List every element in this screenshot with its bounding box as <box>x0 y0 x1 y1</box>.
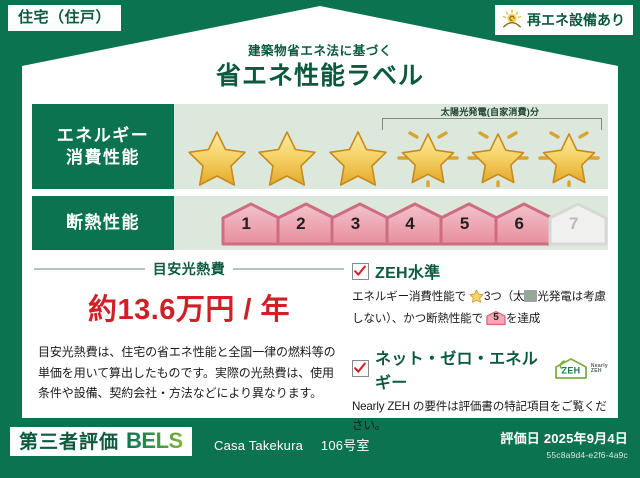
energy-label-line1: エネルギー <box>57 125 150 146</box>
sun-icon <box>501 9 523 31</box>
zeh-logo: ZEH Nearly ZEH <box>553 357 608 381</box>
bels-badge-jp-text: 第三者評価 <box>19 433 119 452</box>
insulation-level-number: 3 <box>329 215 382 232</box>
claim-net-zero-energy-header: ネット・ゼロ・エネルギー ZEH Nearly ZEH <box>352 345 608 393</box>
claim-zeh-standard: ZEH水準 エネルギー消費性能で 3つ（太光発電は考慮しない）、かつ断熱性能で … <box>352 259 608 329</box>
zeh-logo-subtext: Nearly ZEH <box>591 364 608 375</box>
claim-text-part4: を達成 <box>506 312 540 325</box>
evaluation-date: 評価日 2025年9月4日 <box>500 428 628 447</box>
utility-cost-column: 目安光熱費 約13.6万円 / 年 目安光熱費は、住宅の省エネ性能と全国一律の燃… <box>34 259 344 404</box>
redaction-block <box>524 290 537 302</box>
insulation-level-number: 1 <box>220 215 273 232</box>
label-title: 省エネ性能ラベル <box>0 56 640 92</box>
checkmark-icon <box>352 360 369 377</box>
utility-cost-note: 目安光熱費は、住宅の省エネ性能と全国一律の燃料等の単価を用いて算出したものです。… <box>34 342 344 404</box>
star-icon-solar <box>537 125 601 187</box>
insulation-level: 4 <box>384 201 437 247</box>
claim-zeh-standard-title: ZEH水準 <box>375 259 441 283</box>
label-footer: 第三者評価 BELS Casa Takekura 106号室 評価日 2025年… <box>0 418 640 478</box>
insulation-level-number: 4 <box>384 215 437 232</box>
star-icon <box>185 125 249 187</box>
insulation-level-number: 7 <box>547 215 600 232</box>
divider-line-left <box>34 268 145 270</box>
insulation-level: 5 <box>438 201 491 247</box>
insulation-level-scale: 1 2 3 <box>220 200 600 247</box>
insulation-performance-label-box: 断熱性能 <box>32 196 174 250</box>
room-number: 106号室 <box>321 438 370 453</box>
housing-type-tag: 住宅（住戸） <box>8 5 121 31</box>
insulation-level-number: 5 <box>438 215 491 232</box>
claim-text-part1: エネルギー消費性能で <box>352 290 466 303</box>
utility-cost-heading: 目安光熱費 <box>34 259 344 279</box>
star-rating <box>182 124 604 187</box>
insulation-level-number: 6 <box>493 215 546 232</box>
star-icon-solar <box>396 125 460 187</box>
zeh-house-icon: ZEH <box>553 357 589 381</box>
energy-performance-label: 住宅（住戸） 再エネ設備あり 建築物省エネ法に基づく 省エネ性能ラベル <box>0 0 640 478</box>
energy-rating-area: 太陽光発電(自家消費)分 <box>174 104 608 189</box>
evaluation-id: 55c8a9d4-e2f6-4a9c <box>500 450 628 460</box>
checkmark-icon <box>352 263 369 280</box>
claim-zeh-standard-header: ZEH水準 <box>352 259 608 283</box>
insulation-rating-area: 1 2 3 <box>174 196 608 250</box>
star-icon <box>255 125 319 187</box>
label-card: エネルギー 消費性能 太陽光発電(自家消費)分 <box>22 96 618 418</box>
building-info: Casa Takekura 106号室 <box>214 435 370 454</box>
claim-zeh-standard-text: エネルギー消費性能で 3つ（太光発電は考慮しない）、かつ断熱性能で 5 を達成 <box>352 287 608 329</box>
svg-text:ZEH: ZEH <box>561 365 580 375</box>
star-icon <box>326 125 390 187</box>
bels-badge-en-text: BELS <box>126 430 183 452</box>
zeh-sub-line2: ZEH <box>591 368 602 374</box>
claim-text-part2: 3つ（太 <box>484 290 524 303</box>
building-name: Casa Takekura <box>214 438 303 453</box>
energy-label-line2: 消費性能 <box>66 147 140 168</box>
evaluation-info: 評価日 2025年9月4日 55c8a9d4-e2f6-4a9c <box>500 428 628 460</box>
divider-line-right <box>233 268 344 270</box>
inline-insulation-badge: 5 <box>486 310 506 326</box>
renewable-equipment-tag: 再エネ設備あり <box>495 5 633 35</box>
insulation-level: 1 <box>220 201 273 247</box>
insulation-level: 2 <box>275 201 328 247</box>
insulation-level-number: 2 <box>275 215 328 232</box>
insulation-level-inactive: 7 <box>547 201 600 247</box>
bels-badge: 第三者評価 BELS <box>10 427 192 456</box>
solar-bracket-caption: 太陽光発電(自家消費)分 <box>380 105 600 118</box>
star-icon-solar <box>466 125 530 187</box>
claims-column: ZEH水準 エネルギー消費性能で 3つ（太光発電は考慮しない）、かつ断熱性能で … <box>352 259 608 438</box>
energy-performance-row: エネルギー 消費性能 太陽光発電(自家消費)分 <box>32 104 608 189</box>
utility-cost-value: 約13.6万円 / 年 <box>34 286 344 328</box>
energy-performance-label-box: エネルギー 消費性能 <box>32 104 174 189</box>
inline-star-icon <box>469 288 484 309</box>
claim-net-zero-energy-title: ネット・ゼロ・エネルギー <box>375 345 547 393</box>
inline-insulation-badge-number: 5 <box>486 313 506 323</box>
utility-cost-heading-text: 目安光熱費 <box>153 259 226 279</box>
insulation-performance-row: 断熱性能 1 <box>32 196 608 250</box>
insulation-level: 6 <box>493 201 546 247</box>
renewable-equipment-label: 再エネ設備あり <box>527 13 625 27</box>
insulation-level: 3 <box>329 201 382 247</box>
